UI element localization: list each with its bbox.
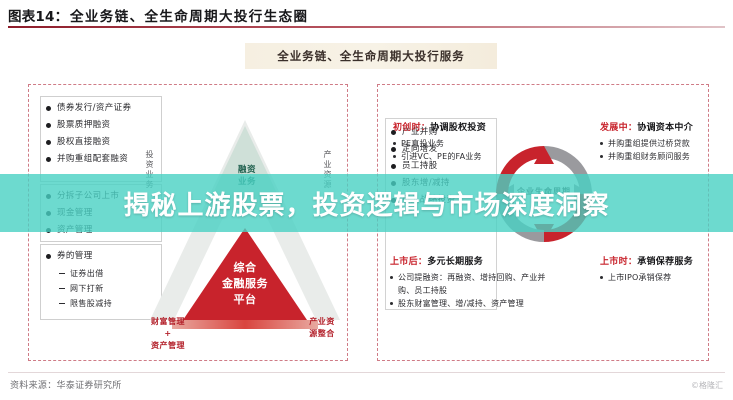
figure-source: 资料来源：华泰证券研究所 xyxy=(10,378,122,391)
figure-title: 全业务链、全生命周期大投行生态圈 xyxy=(70,5,308,25)
list-item: 限售股减持 xyxy=(56,296,112,311)
pyramid-bottom-left-label: 财富管理 + 资产管理 xyxy=(118,316,218,352)
list-item-label: 限售股减持 xyxy=(70,299,112,308)
right-section-heading: 协调股权投资 xyxy=(430,123,486,133)
list-item: 证券出借 xyxy=(56,266,112,281)
diagram-banner-label: 全业务链、全生命周期大投行服务 xyxy=(277,48,465,64)
bullet-dot-icon xyxy=(46,157,51,162)
bullet-dot-icon xyxy=(46,140,51,145)
right-section-stage: 上市时： xyxy=(600,257,637,267)
pyramid-bottom-right-label: 产业资 源整合 xyxy=(274,316,370,340)
bullet-dot-icon xyxy=(390,302,393,305)
bullet-dot-icon xyxy=(390,276,393,279)
list-item-label: 股权直接融资 xyxy=(57,137,110,147)
right-section-stage: 发展中： xyxy=(600,123,637,133)
dash-bullet-icon xyxy=(59,273,65,274)
list-item: PE直投业务 xyxy=(393,137,543,150)
dash-bullet-icon xyxy=(59,288,65,289)
list-item: 股票质押融资 xyxy=(44,117,131,134)
bullet-dot-icon xyxy=(46,254,51,259)
right-section-list: 并购重组提供过桥贷款 并购重组财务顾问服务 xyxy=(600,137,733,163)
list-item-label: 上市IPO承销保荐 xyxy=(608,273,671,282)
bullet-dot-icon xyxy=(600,155,603,158)
figure-label: 图表14： xyxy=(8,5,68,25)
list-item: 上市IPO承销保荐 xyxy=(600,271,733,284)
list-item-label: 券的管理 xyxy=(57,251,93,261)
list-item: 并购重组财务顾问服务 xyxy=(600,150,733,163)
right-section-stage: 初创时： xyxy=(393,123,430,133)
right-section-post-listing: 上市后：多元长期服务 公司提融资：再融资、增持回购、产业并购、员工持股 股东财富… xyxy=(390,256,555,310)
list-item-label: 债券发行/资产证券 xyxy=(57,103,131,113)
right-section-title: 上市时：承销保荐服务 xyxy=(600,256,733,269)
list-item-label: 引进VC、PE的FA业务 xyxy=(401,152,482,161)
list-item-label: 并购重组配套融资 xyxy=(57,154,128,164)
right-section-stage: 上市后： xyxy=(390,257,427,267)
list-item-label: 股东财富管理、增/减持、资产管理 xyxy=(398,299,524,308)
list-item: 网下打新 xyxy=(56,281,112,296)
bullet-dot-icon xyxy=(393,142,396,145)
right-section-growth: 发展中：协调资本中介 并购重组提供过桥贷款 并购重组财务顾问服务 xyxy=(600,122,733,163)
left-list-financing: 债券发行/资产证券 股票质押融资 股权直接融资 并购重组配套融资 xyxy=(44,100,131,168)
left-list-securities-head: 券的管理 xyxy=(44,248,93,265)
site-watermark: ©格隆汇 xyxy=(691,380,723,391)
right-section-list: 上市IPO承销保荐 xyxy=(600,271,733,284)
dash-bullet-icon xyxy=(59,303,65,304)
right-section-list: 公司提融资：再融资、增持回购、产业并购、员工持股 股东财富管理、增/减持、资产管… xyxy=(390,271,555,310)
right-section-heading: 多元长期服务 xyxy=(427,257,483,267)
header-divider xyxy=(8,26,725,28)
right-section-heading: 协调资本中介 xyxy=(637,123,693,133)
right-section-title: 发展中：协调资本中介 xyxy=(600,122,733,135)
right-section-heading: 承销保荐服务 xyxy=(637,257,693,267)
right-section-list: PE直投业务 引进VC、PE的FA业务 xyxy=(393,137,543,163)
list-item: 债券发行/资产证券 xyxy=(44,100,131,117)
right-section-title: 初创时：协调股权投资 xyxy=(393,122,543,135)
list-item: 股东财富管理、增/减持、资产管理 xyxy=(390,297,555,310)
diagram-banner: 全业务链、全生命周期大投行服务 xyxy=(245,43,497,69)
list-item-label: PE直投业务 xyxy=(401,139,444,148)
bullet-dot-icon xyxy=(600,142,603,145)
list-item-label: 并购重组财务顾问服务 xyxy=(608,152,690,161)
bullet-dot-icon xyxy=(393,155,396,158)
left-list-securities-sub: 证券出借 网下打新 限售股减持 xyxy=(56,266,112,311)
list-item: 并购重组配套融资 xyxy=(44,151,131,168)
list-item: 券的管理 xyxy=(44,248,93,265)
bullet-dot-icon xyxy=(600,276,603,279)
list-item-label: 公司提融资：再融资、增持回购、产业并购、员工持股 xyxy=(398,273,546,295)
pyramid-core-label: 综合 金融服务 平台 xyxy=(190,260,300,308)
list-item: 并购重组提供过桥贷款 xyxy=(600,137,733,150)
bullet-dot-icon xyxy=(46,106,51,111)
list-item: 引进VC、PE的FA业务 xyxy=(393,150,543,163)
right-section-listing: 上市时：承销保荐服务 上市IPO承销保荐 xyxy=(600,256,733,284)
bullet-dot-icon xyxy=(46,123,51,128)
figure-page: 图表14： 全业务链、全生命周期大投行生态圈 全业务链、全生命周期大投行服务 债… xyxy=(0,0,733,400)
overlay-headline: 揭秘上游股票，投资逻辑与市场深度洞察 xyxy=(0,174,733,232)
figure-header: 图表14： 全业务链、全生命周期大投行生态圈 xyxy=(8,4,725,30)
list-item: 股权直接融资 xyxy=(44,134,131,151)
list-item: 公司提融资：再融资、增持回购、产业并购、员工持股 xyxy=(390,271,555,297)
bullet-dot-icon xyxy=(391,164,396,169)
list-item-label: 证券出借 xyxy=(70,269,104,278)
list-item-label: 股票质押融资 xyxy=(57,120,110,130)
right-section-startup: 初创时：协调股权投资 PE直投业务 引进VC、PE的FA业务 xyxy=(393,122,543,163)
list-item-label: 网下打新 xyxy=(70,284,104,293)
list-item-label: 并购重组提供过桥贷款 xyxy=(608,139,690,148)
right-section-title: 上市后：多元长期服务 xyxy=(390,256,555,269)
footer-divider xyxy=(8,372,725,373)
